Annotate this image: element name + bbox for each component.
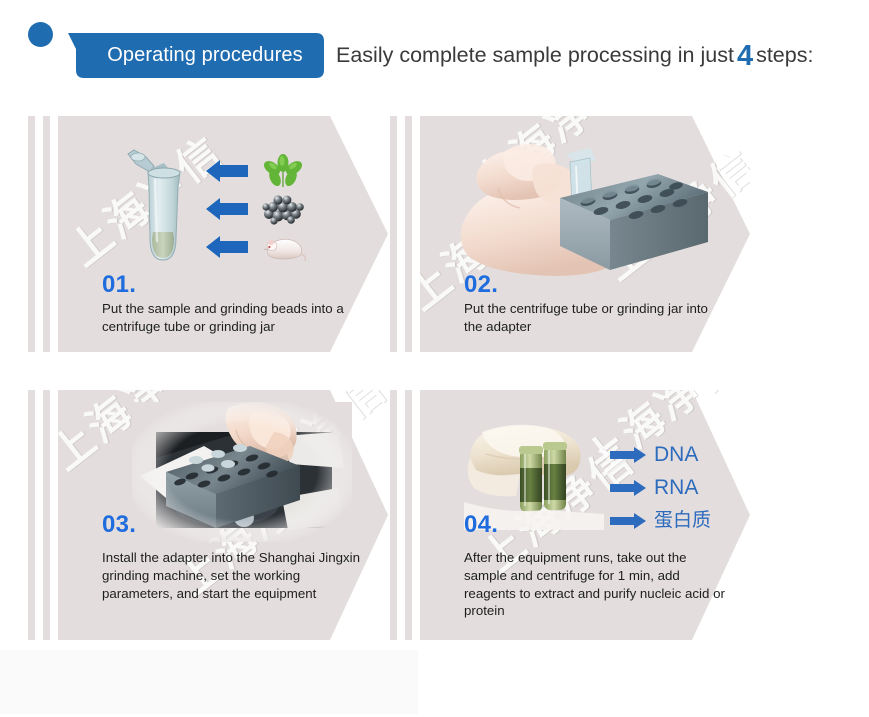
panel-accent-bar — [405, 390, 412, 640]
page-header: Operating procedures Easily complete sam… — [0, 0, 869, 100]
tagline-prefix: Easily complete sample processing in jus… — [336, 43, 734, 68]
step-description: Put the centrifuge tube or grinding jar … — [464, 300, 728, 335]
step-01-text: 01. Put the sample and grinding beads in… — [102, 272, 366, 336]
step-02-text: 02. Put the centrifuge tube or grinding … — [464, 272, 728, 336]
header-badge: Operating procedures — [68, 33, 324, 78]
tagline-suffix: steps: — [756, 43, 813, 68]
panel-content-01: 上海净信 — [58, 116, 388, 352]
step-number: 02. — [464, 272, 728, 297]
arrow-left-icon — [206, 236, 248, 258]
output-row: RNA — [610, 471, 745, 504]
leaf-icon — [260, 154, 306, 188]
centrifuge-tube-photo — [120, 146, 190, 266]
step-04-text: 04. After the equipment runs, take out t… — [464, 512, 728, 620]
header-dot-decoration — [28, 22, 53, 47]
step-panel-01: 上海净信 — [28, 116, 388, 352]
panel-accent-bar — [28, 390, 35, 640]
panel-accent-bar — [43, 116, 50, 352]
input-row — [206, 228, 334, 266]
panel-content-02: 上海净信 上海净信 上海净信 — [420, 116, 750, 352]
step-03-text: 03. Install the adapter into the Shangha… — [102, 512, 366, 602]
tagline-step-count: 4 — [734, 42, 756, 71]
grinding-beads-icon — [260, 192, 306, 226]
output-label: RNA — [654, 477, 698, 498]
hand-inserting-tube-into-adapter-photo — [438, 130, 720, 280]
step-number: 01. — [102, 272, 366, 297]
header-badge-label: Operating procedures — [68, 33, 324, 78]
step-panel-04: 上海净信 上海净信 — [390, 390, 750, 640]
mouse-icon — [260, 230, 306, 264]
step-01-inputs — [206, 152, 334, 266]
step-description: Put the sample and grinding beads into a… — [102, 300, 366, 335]
input-row — [206, 152, 334, 190]
step-description: After the equipment runs, take out the s… — [464, 549, 728, 620]
step-panel-03: 上海净信 上海净信 上海净信 — [28, 390, 388, 640]
input-row — [206, 190, 334, 228]
arrow-left-icon — [206, 198, 248, 220]
arrow-right-icon — [610, 447, 646, 463]
panel-accent-bar — [28, 116, 35, 352]
panel-accent-bar — [405, 116, 412, 352]
panel-accent-bar — [390, 116, 397, 352]
panel-accent-bar — [43, 390, 50, 640]
arrow-right-icon — [610, 480, 646, 496]
output-label: DNA — [654, 444, 698, 465]
step-number: 04. — [464, 512, 728, 537]
step-panel-02: 上海净信 上海净信 上海净信 — [390, 116, 750, 352]
bottom-background-block — [0, 650, 418, 714]
output-row: DNA — [610, 438, 745, 471]
step-description: Install the adapter into the Shanghai Ji… — [102, 549, 366, 602]
arrow-left-icon — [206, 160, 248, 182]
panel-accent-bar — [390, 390, 397, 640]
panel-content-04: 上海净信 上海净信 — [420, 390, 750, 640]
step-number: 03. — [102, 512, 366, 537]
panel-content-03: 上海净信 上海净信 上海净信 — [58, 390, 388, 640]
header-tagline: Easily complete sample processing in jus… — [336, 33, 813, 78]
